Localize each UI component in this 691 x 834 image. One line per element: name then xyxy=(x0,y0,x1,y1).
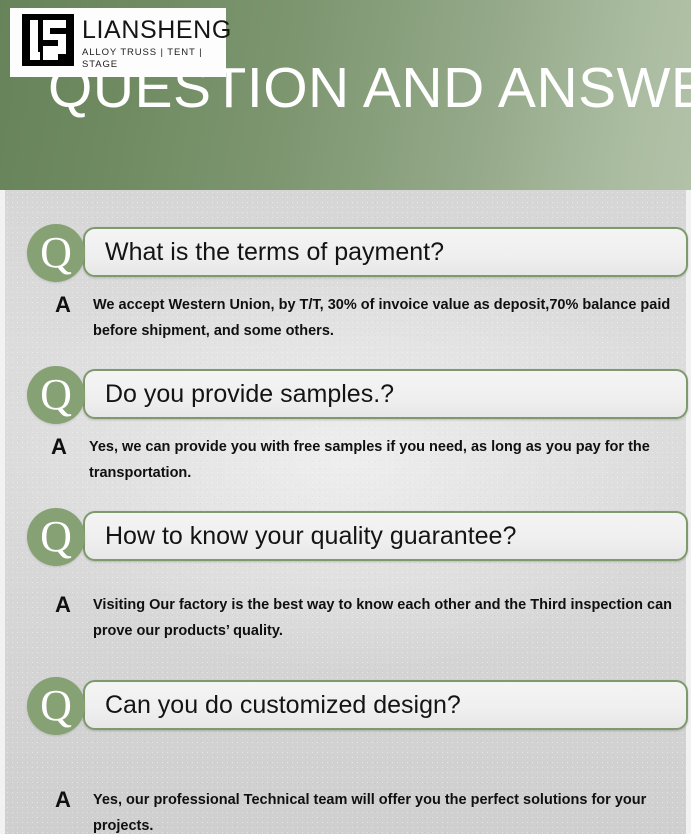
faq-item-1: Q What is the terms of payment? A We acc… xyxy=(5,224,691,344)
answer-row-3: A Visiting Our factory is the best way t… xyxy=(5,592,691,644)
question-box-4[interactable]: Can you do customized design? xyxy=(83,680,688,730)
brand-name: LIANSHENG xyxy=(82,17,232,44)
answer-row-1: A We accept Western Union, by T/T, 30% o… xyxy=(5,292,691,344)
question-box-2[interactable]: Do you provide samples.? xyxy=(83,369,688,419)
question-marker-3: Q xyxy=(27,508,85,566)
answer-text-4: Yes, our professional Technical team wil… xyxy=(93,787,690,834)
question-box-3[interactable]: How to know your quality guarantee? xyxy=(83,511,688,561)
question-marker-1: Q xyxy=(27,224,85,282)
question-row-3: Q How to know your quality guarantee? xyxy=(5,508,691,566)
question-row-4: Q Can you do customized design? xyxy=(5,677,691,735)
faq-page: QUESTION AND ANSWER LIANSHENG ALLOY TRUS… xyxy=(0,0,691,834)
question-marker-2: Q xyxy=(27,366,85,424)
question-text-4: Can you do customized design? xyxy=(105,682,461,728)
brand-logo: LIANSHENG ALLOY TRUSS | TENT | STAGE xyxy=(10,8,226,77)
answer-marker-1: A xyxy=(55,292,81,318)
question-box-1[interactable]: What is the terms of payment? xyxy=(83,227,688,277)
answer-row-4: A Yes, our professional Technical team w… xyxy=(5,787,691,834)
answer-row-2: A Yes, we can provide you with free samp… xyxy=(5,434,691,486)
question-marker-4: Q xyxy=(27,677,85,735)
answer-marker-4: A xyxy=(55,787,81,813)
faq-item-2: Q Do you provide samples.? A Yes, we can… xyxy=(5,366,691,486)
answer-text-3: Visiting Our factory is the best way to … xyxy=(93,592,690,644)
faq-item-3: Q How to know your quality guarantee? A … xyxy=(5,508,691,644)
question-text-3: How to know your quality guarantee? xyxy=(105,513,516,559)
answer-marker-3: A xyxy=(55,592,81,618)
brand-tagline: ALLOY TRUSS | TENT | STAGE xyxy=(82,47,232,71)
question-text-2: Do you provide samples.? xyxy=(105,371,394,417)
ls-monogram-icon xyxy=(22,14,74,66)
answer-marker-2: A xyxy=(51,434,77,460)
answer-text-1: We accept Western Union, by T/T, 30% of … xyxy=(93,292,690,344)
answer-text-2: Yes, we can provide you with free sample… xyxy=(89,434,690,486)
question-row-1: Q What is the terms of payment? xyxy=(5,224,691,282)
question-row-2: Q Do you provide samples.? xyxy=(5,366,691,424)
faq-item-4: Q Can you do customized design? A Yes, o… xyxy=(5,677,691,834)
brand-text: LIANSHENG ALLOY TRUSS | TENT | STAGE xyxy=(82,17,232,71)
question-text-1: What is the terms of payment? xyxy=(105,229,444,275)
faq-content: Q What is the terms of payment? A We acc… xyxy=(0,190,691,834)
